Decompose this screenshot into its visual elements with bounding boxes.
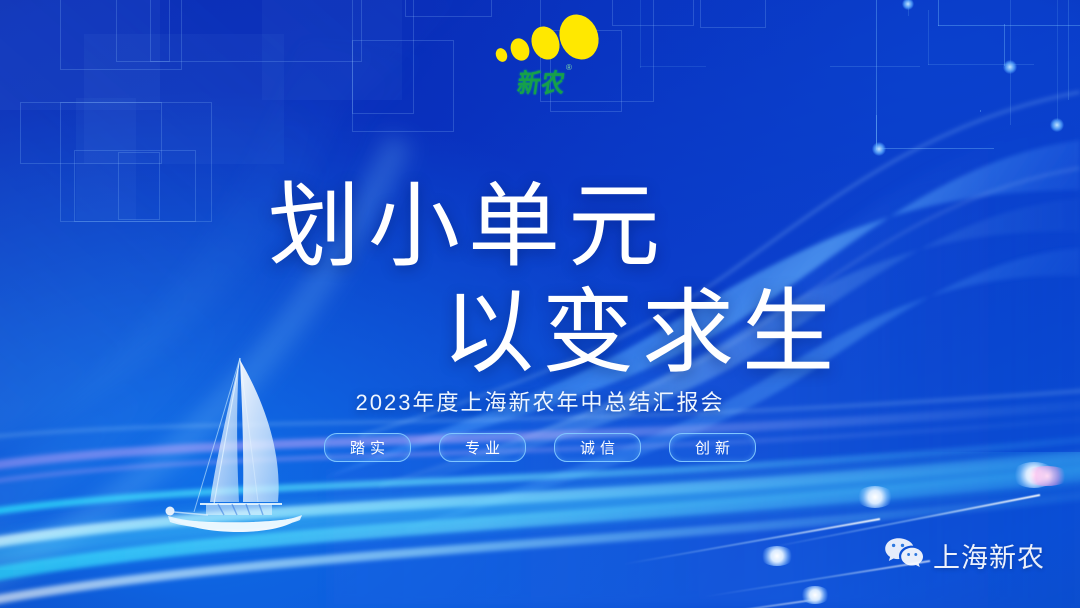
wechat-account-name: 上海新农: [933, 536, 1045, 575]
wechat-watermark: 上海新农: [884, 536, 1045, 575]
logo-dot-1: [494, 46, 509, 63]
value-tag-1: 专业: [439, 433, 526, 462]
logo-dot-2: [507, 35, 532, 63]
brand-logo: 新农 ®: [494, 14, 604, 100]
poster-canvas: 新农 ® 划小单元 以变求生 2023年度上海新农年中总结汇报会 踏实 专业 诚…: [0, 0, 1080, 608]
value-tag-list: 踏实 专业 诚信 创新: [0, 433, 1080, 462]
value-tag-2: 诚信: [554, 433, 641, 462]
logo-trademark: ®: [566, 63, 572, 72]
value-tag-0: 踏实: [324, 433, 411, 462]
wechat-icon: [884, 536, 924, 575]
logo-wordmark: 新农: [515, 62, 568, 100]
value-tag-3: 创新: [669, 433, 756, 462]
logo-dot-4: [553, 9, 605, 66]
